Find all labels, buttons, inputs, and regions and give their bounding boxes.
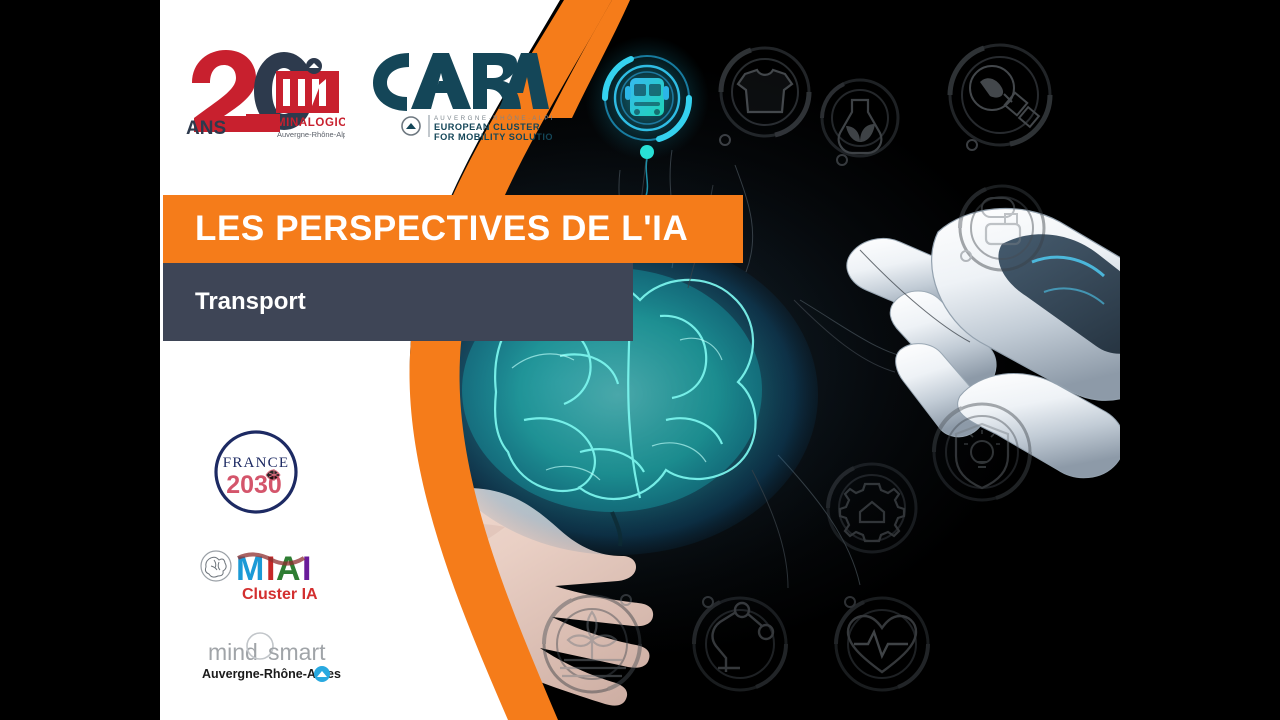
minalogic-name: MINALOGIC <box>276 117 345 129</box>
svg-text:I: I <box>302 550 311 588</box>
letterbox-left <box>0 0 160 720</box>
cara-region: A U V E R G N E · R H Ô N E · A L P E S <box>434 115 552 122</box>
brain-icon <box>201 551 231 581</box>
france2030-line1: FRANCE <box>223 455 289 471</box>
partner-logo-column: FRANCE 2030 <box>180 425 370 710</box>
top-logo-row: ANS MINALOGIC Auvergne-Rhône-Alpes <box>180 38 552 143</box>
logo-miai: M I A I Cluster IA <box>198 544 338 606</box>
cara-line1: EUROPEAN CLUSTER <box>434 122 540 132</box>
logo-france2030: FRANCE 2030 <box>204 425 309 520</box>
subtitle-text: Transport <box>195 288 306 316</box>
minalogic-ans-label: ANS <box>186 118 226 139</box>
cara-wordmark <box>373 53 549 111</box>
slide-content: LES PERSPECTIVES DE L'IA Transport ANS <box>160 0 1120 720</box>
slide-root: LES PERSPECTIVES DE L'IA Transport ANS <box>0 0 1280 720</box>
page-title: LES PERSPECTIVES DE L'IA <box>195 209 688 249</box>
subtitle-banner: Transport <box>163 263 633 341</box>
mindsmart-left: mind <box>208 639 258 665</box>
svg-text:A: A <box>276 550 301 588</box>
logo-minalogic: ANS MINALOGIC Auvergne-Rhône-Alpes <box>180 38 345 143</box>
logo-mindsmart: mind smart Auvergne-Rhône-Alpes <box>194 630 344 686</box>
letterbox-right <box>1120 0 1280 720</box>
miai-tagline: Cluster IA <box>242 586 318 603</box>
cara-line2: FOR MOBILITY SOLUTIONS <box>434 132 552 141</box>
title-banner: LES PERSPECTIVES DE L'IA <box>163 195 743 263</box>
logo-cara: A U V E R G N E · R H Ô N E · A L P E S … <box>367 41 552 141</box>
minalogic-region: Auvergne-Rhône-Alpes <box>277 130 345 139</box>
mindsmart-right: smart <box>268 639 326 665</box>
